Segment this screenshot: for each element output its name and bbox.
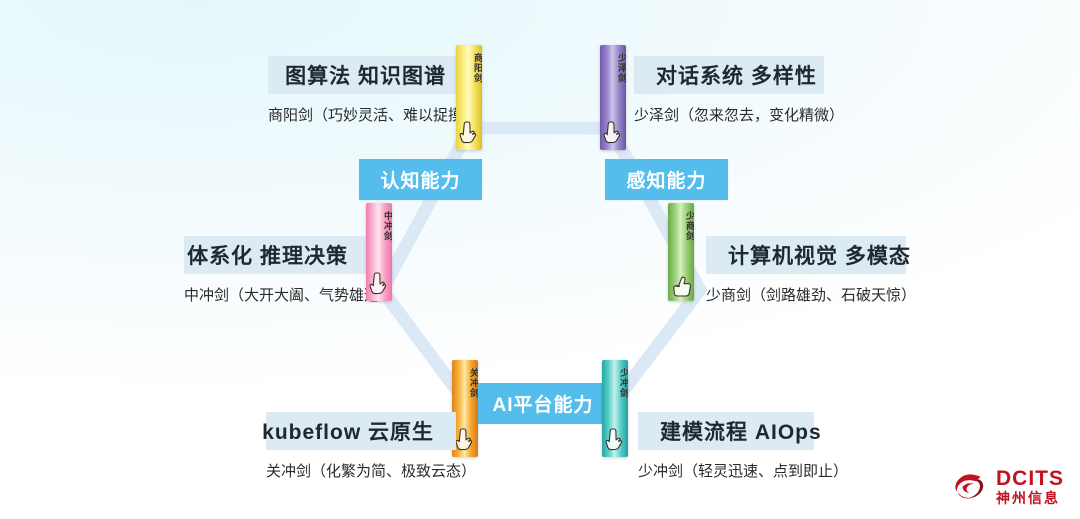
- sword-pillar-zhongchong[interactable]: 中冲剑: [366, 203, 392, 301]
- badge-cognitive[interactable]: 认知能力: [359, 159, 482, 200]
- logo-cn: 神州信息: [996, 491, 1064, 505]
- group-title-band-dialogue-system: 对话系统 多样性: [634, 56, 824, 94]
- dcits-swirl-icon: [951, 470, 989, 504]
- sword-label-shaochong: 少冲剑: [602, 368, 628, 398]
- group-title-cloud-native: kubeflow 云原生: [262, 416, 434, 446]
- group-subtitle-knowledge-graph: 商阳剑（巧妙灵活、难以捉摸）: [268, 94, 468, 125]
- group-cloud-native: kubeflow 云原生 关冲剑（化繁为简、极致云态）: [266, 412, 456, 481]
- sword-label-shaoze: 少泽剑: [600, 53, 626, 83]
- sword-pillar-shangyang[interactable]: 商阳剑: [456, 45, 482, 150]
- group-subtitle-computer-vision: 少商剑（剑路雄劲、石破天惊）: [706, 274, 906, 305]
- group-subtitle-cloud-native: 关冲剑（化繁为简、极致云态）: [266, 450, 456, 481]
- group-title-band-cloud-native: kubeflow 云原生: [266, 412, 456, 450]
- group-reasoning-decision: 体系化 推理决策 中冲剑（大开大阖、气势雄迈）: [184, 236, 370, 305]
- group-title-knowledge-graph: 图算法 知识图谱: [285, 60, 446, 90]
- group-dialogue-system: 对话系统 多样性 少泽剑（忽来忽去，变化精微）: [634, 56, 824, 125]
- sword-pillar-shaochong[interactable]: 少冲剑: [602, 360, 628, 457]
- pointing-finger-icon: [453, 425, 477, 455]
- thumbs-up-icon: [669, 269, 693, 299]
- group-title-band-computer-vision: 计算机视觉 多模态: [706, 236, 906, 274]
- sword-label-shangyang: 商阳剑: [456, 53, 482, 83]
- group-subtitle-dialogue-system: 少泽剑（忽来忽去，变化精微）: [634, 94, 824, 125]
- sword-label-zhongchong: 中冲剑: [366, 211, 392, 241]
- sword-label-guanchong: 关冲剑: [452, 368, 478, 398]
- hexagon-connector: [0, 0, 1080, 519]
- logo-en: DCITS: [996, 468, 1064, 489]
- group-subtitle-modeling-aiops: 少冲剑（轻灵迅速、点到即止）: [638, 450, 814, 481]
- sword-pillar-shaoshang[interactable]: 少商剑: [668, 203, 694, 301]
- slide-canvas: 图算法 知识图谱 商阳剑（巧妙灵活、难以捉摸） 商阳剑 少泽剑 对话系统 多样性…: [0, 0, 1080, 519]
- group-knowledge-graph: 图算法 知识图谱 商阳剑（巧妙灵活、难以捉摸）: [268, 56, 468, 125]
- group-title-computer-vision: 计算机视觉 多模态: [728, 240, 911, 270]
- pointing-finger-icon: [367, 269, 391, 299]
- pointing-finger-icon: [601, 118, 625, 148]
- badge-perception-label: 感知能力: [626, 166, 706, 193]
- sword-label-shaoshang: 少商剑: [668, 211, 694, 241]
- logo-wordmark: DCITS 神州信息: [996, 468, 1064, 505]
- badge-perception[interactable]: 感知能力: [605, 159, 728, 200]
- badge-ai-platform[interactable]: AI平台能力: [478, 383, 608, 424]
- group-title-band-modeling-aiops: 建模流程 AIOps: [638, 412, 814, 450]
- badge-cognitive-label: 认知能力: [380, 166, 460, 193]
- company-logo: DCITS 神州信息: [951, 468, 1064, 505]
- sword-pillar-shaoze[interactable]: 少泽剑: [600, 45, 626, 150]
- group-title-band-reasoning-decision: 体系化 推理决策: [184, 236, 370, 274]
- group-title-reasoning-decision: 体系化 推理决策: [187, 240, 348, 270]
- group-modeling-aiops: 建模流程 AIOps 少冲剑（轻灵迅速、点到即止）: [638, 412, 814, 481]
- group-title-band-knowledge-graph: 图算法 知识图谱: [268, 56, 468, 94]
- pointing-finger-icon: [603, 425, 627, 455]
- group-title-modeling-aiops: 建模流程 AIOps: [660, 416, 822, 446]
- badge-ai-platform-label: AI平台能力: [492, 390, 593, 417]
- pointing-finger-icon: [457, 118, 481, 148]
- group-computer-vision: 计算机视觉 多模态 少商剑（剑路雄劲、石破天惊）: [706, 236, 906, 305]
- group-subtitle-reasoning-decision: 中冲剑（大开大阖、气势雄迈）: [184, 274, 370, 305]
- group-title-dialogue-system: 对话系统 多样性: [656, 60, 817, 90]
